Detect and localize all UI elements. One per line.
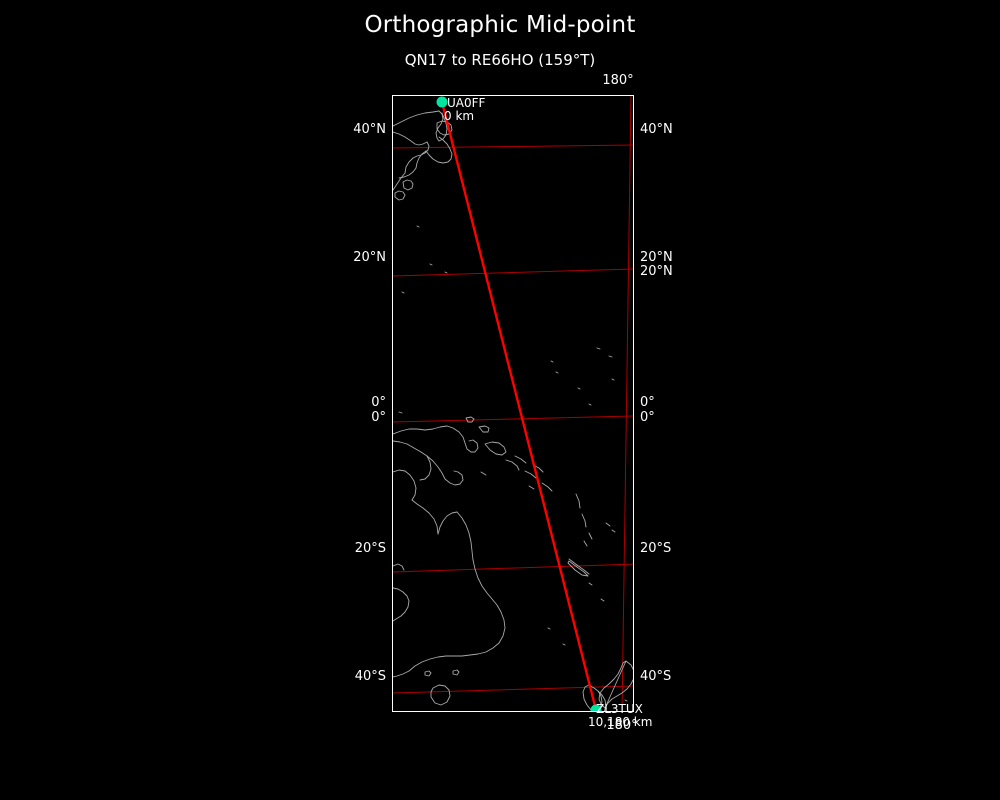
coast-kingisland bbox=[425, 671, 431, 676]
meridian-tick-bottom: 180° bbox=[599, 719, 645, 732]
coast-kyushu-s bbox=[395, 191, 405, 200]
lat-tick-left-20s: 20°S bbox=[306, 542, 386, 555]
coast-newbritain bbox=[485, 442, 506, 455]
coast-islet-1 bbox=[417, 226, 419, 227]
coast-aus-cape-e bbox=[438, 512, 457, 534]
coast-islet-12 bbox=[399, 412, 402, 413]
figure-canvas: Orthographic Mid-point QN17 to RE66HO (1… bbox=[0, 0, 1000, 800]
coast-kyushu bbox=[399, 168, 416, 178]
coast-islet-7 bbox=[609, 356, 612, 357]
coast-newguinea-s bbox=[393, 441, 463, 485]
lat-tick-right-0-b: 0° bbox=[640, 411, 655, 424]
coast-islet-5 bbox=[551, 361, 553, 362]
map-canvas bbox=[393, 96, 634, 712]
endpoint-start-distance: 0 km bbox=[444, 110, 474, 123]
coast-aus-cape-w bbox=[412, 500, 438, 534]
coast-vanuatu-2 bbox=[582, 514, 586, 527]
coast-solomon-5 bbox=[542, 483, 552, 491]
lat-tick-right-0-a: 0° bbox=[640, 396, 655, 409]
coast-islet-nz-5 bbox=[589, 583, 592, 585]
lat-tick-left-40n: 40°N bbox=[306, 123, 386, 136]
lat-tick-right-40n: 40°N bbox=[640, 123, 673, 136]
coast-aus-nw bbox=[393, 470, 416, 500]
lat-tick-left-40s: 40°S bbox=[306, 670, 386, 683]
coast-vanuatu-1 bbox=[576, 494, 580, 508]
coast-solomon-2 bbox=[515, 456, 526, 463]
coast-islet-nz-1 bbox=[625, 700, 627, 701]
coast-islet-11 bbox=[589, 404, 591, 405]
coast-amur bbox=[393, 132, 427, 145]
coast-islet-nz-3 bbox=[548, 628, 550, 629]
lat-tick-right-40s: 40°S bbox=[640, 670, 671, 683]
coast-newguinea-tail bbox=[420, 456, 431, 480]
coast-islet-3 bbox=[445, 272, 447, 273]
lat-tick-right-20n-b: 20°N bbox=[640, 265, 673, 278]
lat-tick-left-20n: 20°N bbox=[306, 251, 386, 264]
meridian-180 bbox=[622, 96, 631, 712]
map-plot-area[interactable] bbox=[392, 95, 634, 712]
coast-islet-8 bbox=[578, 388, 580, 389]
coast-solomon-3 bbox=[525, 471, 536, 478]
coast-islet-10 bbox=[556, 372, 558, 373]
coast-fiji-1 bbox=[606, 523, 610, 526]
coast-newguinea-n bbox=[393, 426, 478, 452]
coast-shikoku bbox=[403, 180, 413, 190]
coast-islet-6 bbox=[597, 348, 600, 349]
coast-aus-westbulge bbox=[393, 588, 409, 621]
coast-newcaledonia-body bbox=[568, 561, 588, 576]
coast-aus-south bbox=[393, 671, 409, 677]
coast-islet-nz-4 bbox=[601, 599, 604, 601]
coast-islet-4 bbox=[402, 292, 404, 293]
graticule-parallels bbox=[393, 145, 634, 693]
coast-asia-north bbox=[393, 111, 439, 126]
great-circle-path bbox=[442, 102, 596, 710]
coast-tasmania bbox=[431, 685, 450, 705]
lat-tick-left-0-a: 0° bbox=[306, 396, 386, 409]
parallel-20s bbox=[393, 564, 634, 572]
meridian-tick-top: 180° bbox=[595, 74, 641, 87]
coast-newireland bbox=[479, 426, 489, 432]
coastlines bbox=[393, 111, 634, 712]
coast-vanuatu-4 bbox=[584, 541, 587, 546]
graticule-meridians bbox=[622, 96, 631, 712]
coast-flindersisland bbox=[453, 670, 459, 675]
coast-solomon-1 bbox=[506, 460, 519, 470]
coast-aus-nwcape bbox=[393, 564, 404, 570]
lat-tick-right-20s: 20°S bbox=[640, 542, 671, 555]
endpoint-marker-start[interactable] bbox=[437, 97, 448, 108]
coast-aus-east bbox=[409, 512, 505, 671]
lat-tick-right-20n-a: 20°N bbox=[640, 251, 673, 264]
coast-primorye bbox=[405, 142, 429, 173]
coast-islet-nz-2 bbox=[563, 644, 565, 645]
coast-nz-north-e bbox=[605, 661, 634, 708]
coast-admiralty bbox=[466, 417, 474, 422]
page-title: Orthographic Mid-point bbox=[0, 12, 1000, 38]
coast-islet-2 bbox=[430, 264, 432, 265]
parallel-40s bbox=[393, 686, 634, 693]
parallel-20n bbox=[393, 269, 634, 276]
coast-fiji-2 bbox=[612, 530, 615, 532]
coast-islet-9 bbox=[612, 379, 614, 380]
lat-tick-left-0-b: 0° bbox=[306, 411, 386, 424]
coast-vanuatu-3 bbox=[589, 533, 592, 539]
page-subtitle: QN17 to RE66HO (159°T) bbox=[0, 51, 1000, 69]
coast-solomon-6 bbox=[529, 486, 534, 489]
parallel-0 bbox=[393, 416, 634, 422]
coast-solomon-7 bbox=[481, 472, 486, 475]
